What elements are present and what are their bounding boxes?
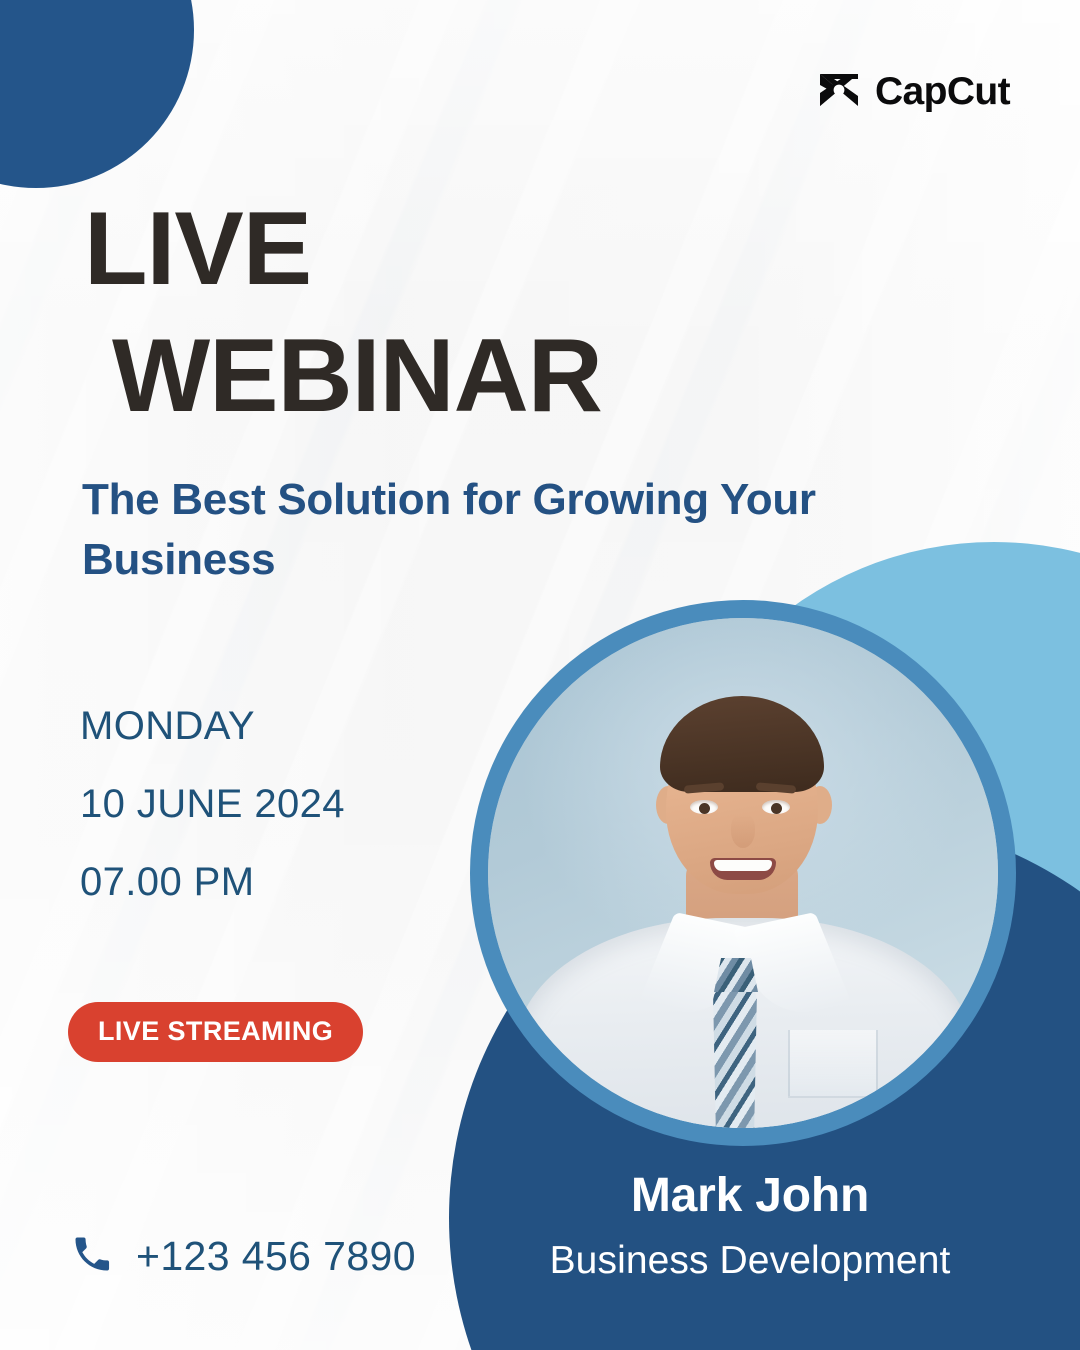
schedule-day: MONDAY [80, 706, 345, 746]
subtitle: The Best Solution for Growing Your Busin… [82, 470, 852, 590]
headline-line-1: LIVE [84, 191, 311, 307]
contact-phone[interactable]: +123 456 7890 [70, 1232, 416, 1281]
webinar-poster: CapCut LIVE WEBINAR The Best Solution fo… [0, 0, 1080, 1350]
portrait-pupil-left [699, 803, 710, 814]
phone-number: +123 456 7890 [136, 1233, 416, 1280]
speaker-portrait-ring [470, 600, 1016, 1146]
headline-line-2: WEBINAR [112, 313, 704, 440]
phone-icon [70, 1232, 114, 1281]
portrait-pupil-right [771, 803, 782, 814]
portrait-mouth [710, 858, 776, 880]
schedule-date: 10 JUNE 2024 [80, 784, 345, 824]
page-title: LIVE WEBINAR [84, 186, 704, 440]
schedule-time: 07.00 PM [80, 862, 345, 902]
portrait-teeth [714, 860, 772, 871]
speaker-info: Mark John Business Development [440, 1168, 1060, 1283]
speaker-portrait-photo [488, 618, 998, 1128]
portrait-shirt-pocket [788, 1030, 878, 1098]
speaker-role: Business Development [440, 1239, 1060, 1283]
capcut-logo: CapCut [817, 70, 1010, 114]
schedule-block: MONDAY 10 JUNE 2024 07.00 PM [80, 706, 345, 902]
capcut-wordmark: CapCut [875, 70, 1010, 114]
portrait-tie-knot [714, 958, 758, 992]
portrait-striped-tie [709, 970, 761, 1128]
capcut-bowtie-icon [817, 71, 861, 114]
live-streaming-badge[interactable]: LIVE STREAMING [68, 1002, 363, 1062]
speaker-name: Mark John [440, 1168, 1060, 1223]
portrait-nose [731, 814, 755, 848]
